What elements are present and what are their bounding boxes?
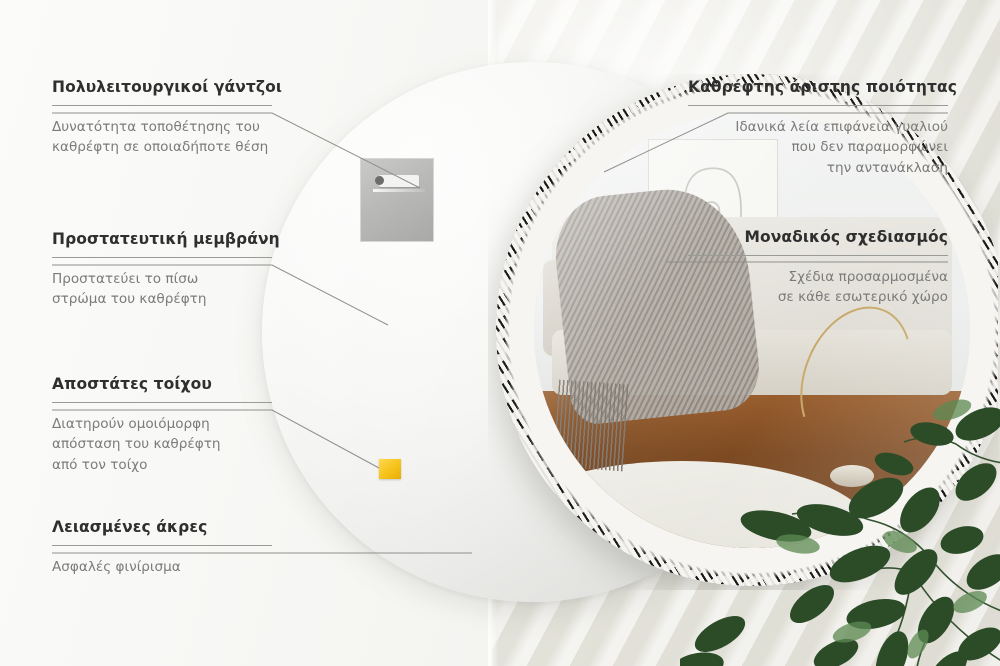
callout-membrane: Προστατευτική μεμβράνη Προστατεύει το πί…: [52, 230, 272, 310]
callout-edges-body: Ασφαλές φινίρισμα: [52, 557, 272, 577]
callout-edges-rule: [52, 545, 272, 546]
callout-membrane-rule: [52, 257, 272, 258]
wall-spacer-chip: [379, 459, 401, 479]
infographic-stage: Πολυλειτουργικοί γάντζοι Δυνατότητα τοπο…: [0, 0, 1000, 666]
callout-hooks-body: Δυνατότητα τοποθέτησης του καθρέφτη σε ο…: [52, 117, 272, 158]
callout-membrane-body: Προστατεύει το πίσω στρώμα του καθρέφτη: [52, 269, 272, 310]
callout-hooks-rule: [52, 105, 272, 106]
callout-hooks-title: Πολυλειτουργικοί γάντζοι: [52, 78, 272, 96]
callout-spacers-body: Διατηρούν ομοιόμορφη απόσταση του καθρέφ…: [52, 414, 272, 475]
callout-quality-title: Καθρέφτης άριστης ποιότητας: [688, 78, 948, 96]
hanging-hook-icon: [379, 175, 419, 187]
hook-highlight: [373, 189, 425, 192]
foliage-branch: [680, 314, 1000, 666]
callout-design-body: Σχέδια προσαρμοσμένα σε κάθε εσωτερικό χ…: [688, 267, 948, 308]
hook-detail-box: [360, 158, 434, 242]
callout-quality: Καθρέφτης άριστης ποιότητας Ιδανικά λεία…: [688, 78, 948, 178]
callout-edges-title: Λειασμένες άκρες: [52, 518, 272, 536]
callout-spacers: Αποστάτες τοίχου Διατηρούν ομοιόμορφη απ…: [52, 375, 272, 475]
callout-edges: Λειασμένες άκρες Ασφαλές φινίρισμα: [52, 518, 272, 577]
callout-quality-body: Ιδανικά λεία επιφάνεια γυαλιού που δεν π…: [688, 117, 948, 178]
callout-membrane-title: Προστατευτική μεμβράνη: [52, 230, 272, 248]
callout-design: Μοναδικός σχεδιασμός Σχέδια προσαρμοσμέν…: [688, 228, 948, 308]
callout-design-rule: [688, 255, 948, 256]
callout-hooks: Πολυλειτουργικοί γάντζοι Δυνατότητα τοπο…: [52, 78, 272, 158]
callout-spacers-title: Αποστάτες τοίχου: [52, 375, 272, 393]
callout-quality-rule: [688, 105, 948, 106]
callout-spacers-rule: [52, 402, 272, 403]
callout-design-title: Μοναδικός σχεδιασμός: [688, 228, 948, 246]
